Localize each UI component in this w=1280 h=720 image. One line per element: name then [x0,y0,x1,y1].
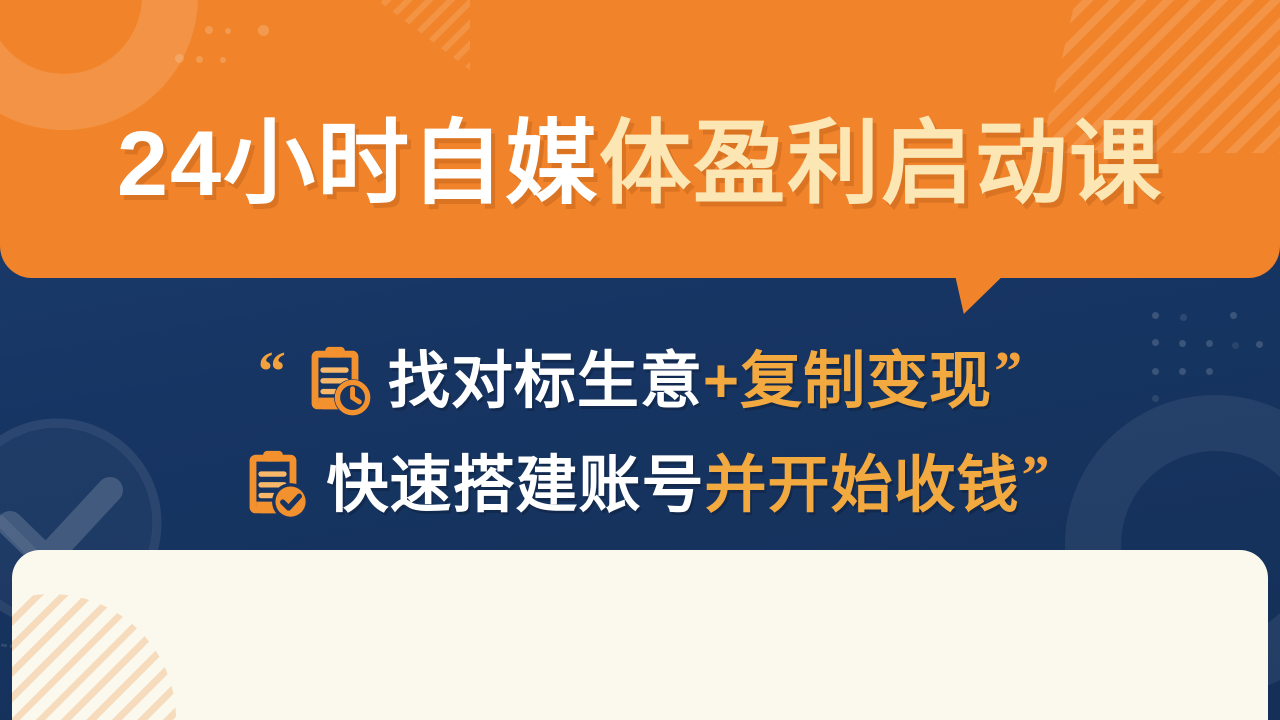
page-title: 24小时自媒体盈利启动课 [0,118,1280,210]
clipboard-check-icon [234,447,312,525]
quote-line-1: “ 找对标生意+复制变现 ” [0,330,1280,434]
promo-poster: 24小时自媒体盈利启动课 “ 找对标生意+复制变现 ” [0,0,1280,720]
quote-line-1-highlight: +复制变现 [703,347,992,416]
title-cream-segment: 体盈利启动课 [599,113,1163,215]
bottom-content-card [12,550,1268,720]
header-ring-decoration [0,0,198,130]
quote-line-1-white: 找对标生意 [388,347,703,416]
card-striped-circle-decoration [12,594,176,720]
header-stripes-mid [340,0,470,70]
open-quote-mark: “ [258,344,286,400]
quote-lines: “ 找对标生意+复制变现 ” [0,330,1280,538]
quote-line-2-highlight: 并开始收钱 [705,451,1020,520]
quote-line-2-text: 快速搭建账号并开始收钱 [326,455,1019,517]
quote-line-1-text: 找对标生意+复制变现 [388,351,992,413]
clipboard-clock-icon [296,343,374,421]
quote-line-2: 快速搭建账号并开始收钱 ” [0,434,1280,538]
close-quote-mark: ” [994,344,1022,400]
title-white-segment: 24小时自媒 [117,113,599,215]
quote-line-2-white: 快速搭建账号 [326,451,704,520]
close-quote-mark-2: ” [1022,448,1050,504]
